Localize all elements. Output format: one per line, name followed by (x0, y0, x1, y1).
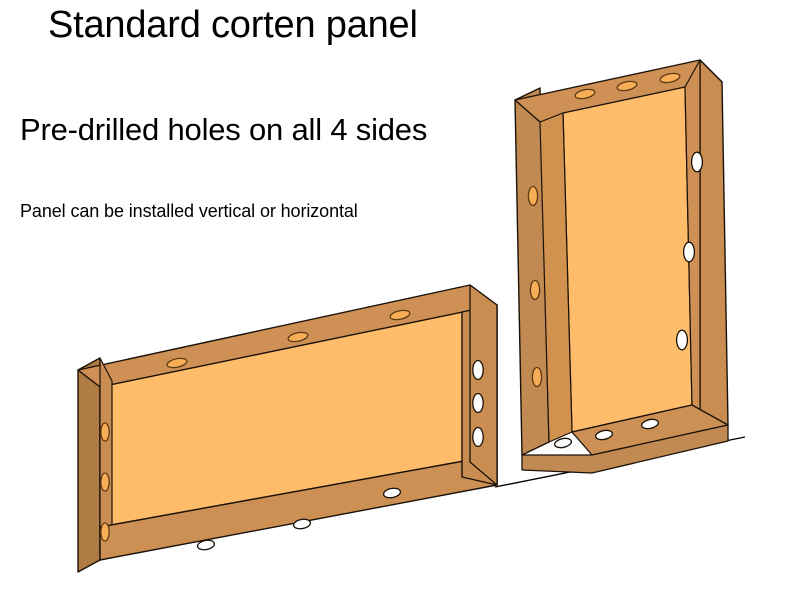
hole-right-end-2 (473, 394, 483, 413)
hole-v-right-1 (692, 152, 703, 172)
hole-right-end-3 (473, 428, 483, 447)
horizontal-panel (78, 285, 497, 572)
hole-right-end-1 (473, 361, 483, 380)
hole-v-left-1 (528, 187, 537, 206)
slide-canvas: Standard corten panel Pre-drilled holes … (0, 0, 800, 600)
hole-left-end-3 (101, 523, 109, 541)
vertical-panel (515, 60, 728, 473)
hole-left-end-1 (101, 423, 109, 441)
hole-v-left-3 (532, 368, 541, 387)
hole-v-left-2 (530, 281, 539, 300)
horizontal-panel-right-end-holes (473, 361, 483, 447)
horizontal-panel-left-end-outer-face (78, 358, 100, 572)
hole-v-right-3 (677, 330, 688, 350)
panel-diagram: Two corten steel panels shown in isometr… (0, 0, 800, 600)
vertical-panel-right-end-face (700, 60, 728, 440)
horizontal-panel-right-outer-sliver (470, 285, 497, 485)
hole-v-right-2 (684, 242, 695, 262)
hole-left-end-2 (101, 473, 109, 491)
vertical-panel-inner-face (563, 87, 692, 432)
